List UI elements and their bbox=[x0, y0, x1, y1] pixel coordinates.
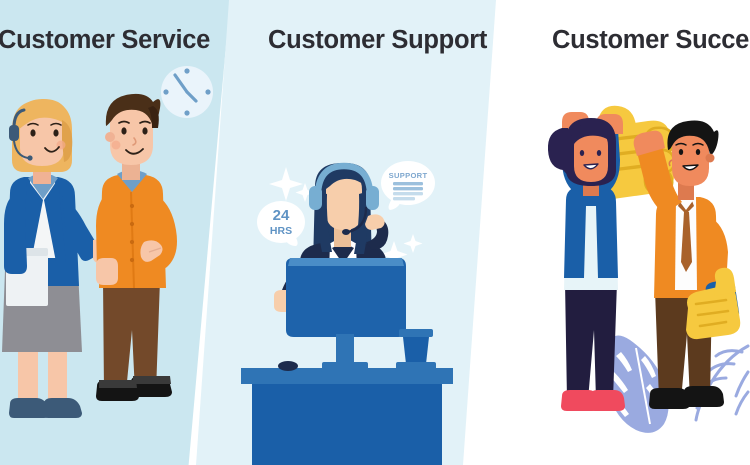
panel-customer-support bbox=[196, 0, 496, 465]
panel-title-customer-support: Customer Support bbox=[268, 26, 487, 55]
illustration-banner: 24 HRS SUPPORT bbox=[0, 0, 750, 465]
panel-customer-success bbox=[468, 0, 750, 465]
panel-customer-service bbox=[0, 0, 230, 465]
panel-title-customer-success: Customer Succe bbox=[552, 26, 749, 55]
panel-title-customer-service: Customer Service bbox=[0, 26, 210, 55]
